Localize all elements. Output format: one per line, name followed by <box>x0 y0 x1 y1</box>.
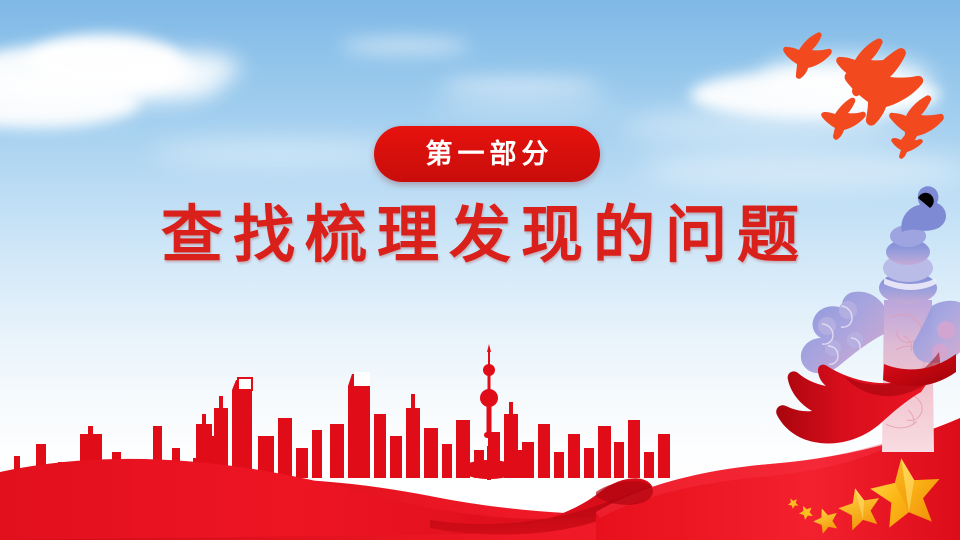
cloud-shape <box>150 140 410 166</box>
cloud-shape <box>150 52 240 86</box>
cloud-shape <box>760 56 930 100</box>
presentation-slide: 第一部分 查找梳理发现的问题 <box>0 0 960 540</box>
cloud-shape <box>430 96 620 114</box>
cloud-shape <box>340 38 470 54</box>
page-title: 查找梳理发现的问题 <box>0 200 960 269</box>
cloud-shape <box>640 150 960 190</box>
section-badge-label: 第一部分 <box>421 141 554 168</box>
section-badge[interactable]: 第一部分 <box>374 126 600 182</box>
cloud-shape <box>440 78 600 92</box>
cloud-shape <box>620 108 910 144</box>
